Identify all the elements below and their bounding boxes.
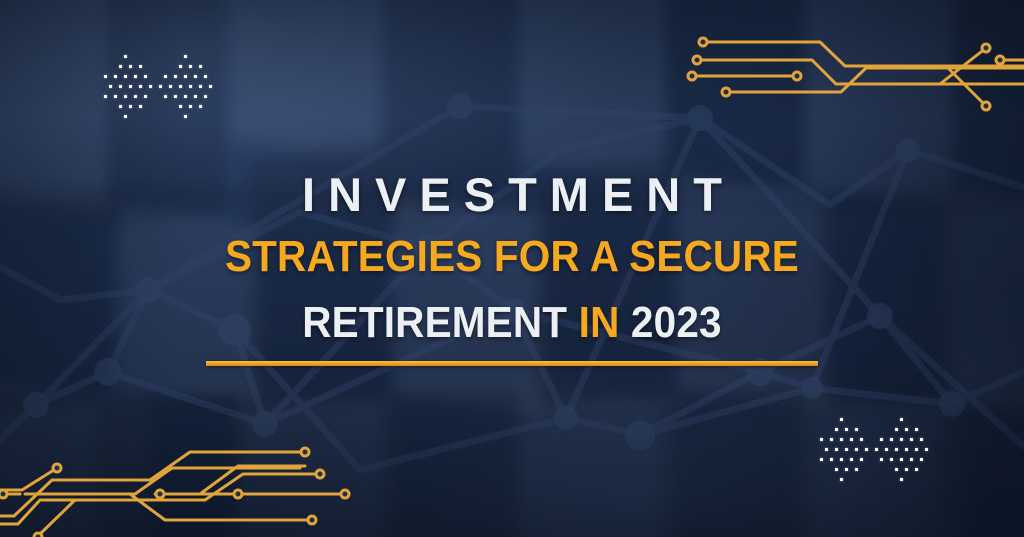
headline-line-2: STRATEGIES FOR A SECURE xyxy=(225,235,799,279)
orange-divider xyxy=(206,361,818,366)
banner-root: INVESTMENT STRATEGIES FOR A SECURE RETIR… xyxy=(0,0,1024,537)
headline-line-3-highlight: IN xyxy=(579,298,620,347)
headline-line-3-suffix: 2023 xyxy=(620,298,722,347)
headline-line-3-prefix: RETIREMENT xyxy=(302,298,578,347)
headline-line-1: INVESTMENT xyxy=(289,171,735,218)
headline-block: INVESTMENT STRATEGIES FOR A SECURE RETIR… xyxy=(0,0,1024,537)
headline-line-3: RETIREMENT IN 2023 xyxy=(302,301,721,345)
